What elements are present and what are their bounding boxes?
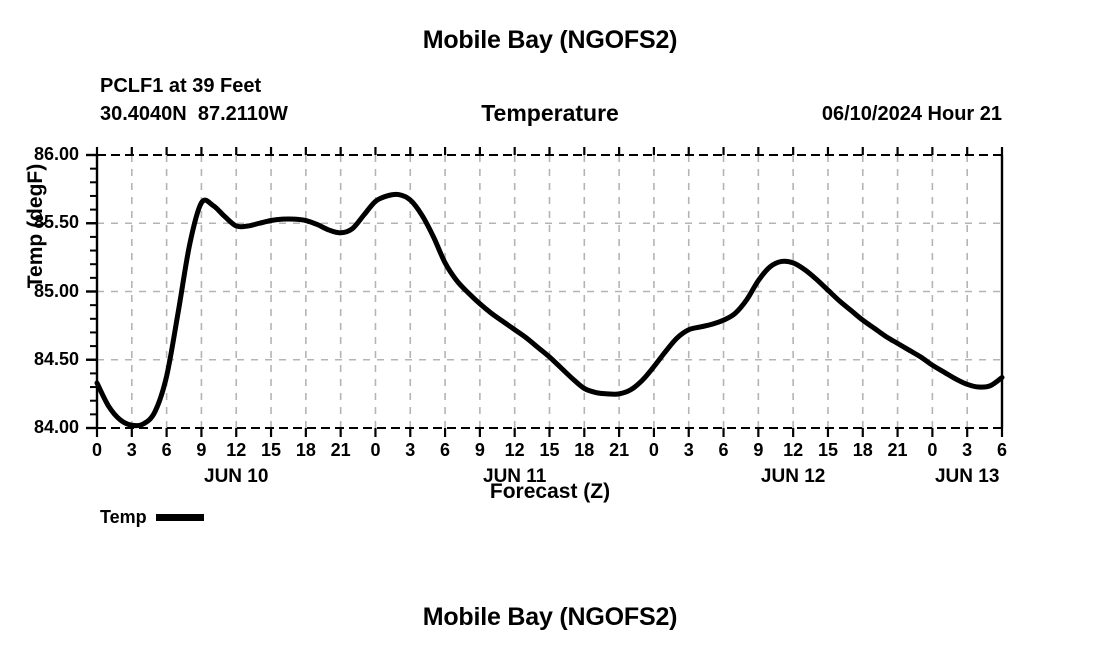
- legend-swatch-temp: [156, 514, 204, 521]
- y-axis-tick-label: 84.50: [0, 349, 79, 370]
- temperature-plot: [0, 0, 1100, 650]
- y-axis-tick-label: 84.00: [0, 417, 79, 438]
- chart-legend: Temp: [100, 507, 204, 528]
- x-axis-tick-label: 6: [982, 440, 1022, 461]
- bottom-title: Mobile Bay (NGOFS2): [0, 603, 1100, 632]
- x-axis-day-label: JUN 12: [733, 466, 853, 488]
- legend-label-temp: Temp: [100, 507, 147, 528]
- x-axis-day-label: JUN 11: [455, 466, 575, 488]
- x-axis-day-label: JUN 10: [176, 466, 296, 488]
- y-axis-tick-label: 86.00: [0, 144, 79, 165]
- x-axis-day-label: JUN 13: [907, 466, 1027, 488]
- chart-page: Mobile Bay (NGOFS2) PCLF1 at 39 Feet 30.…: [0, 0, 1100, 650]
- y-axis-tick-label: 85.50: [0, 212, 79, 233]
- y-axis-tick-label: 85.00: [0, 281, 79, 302]
